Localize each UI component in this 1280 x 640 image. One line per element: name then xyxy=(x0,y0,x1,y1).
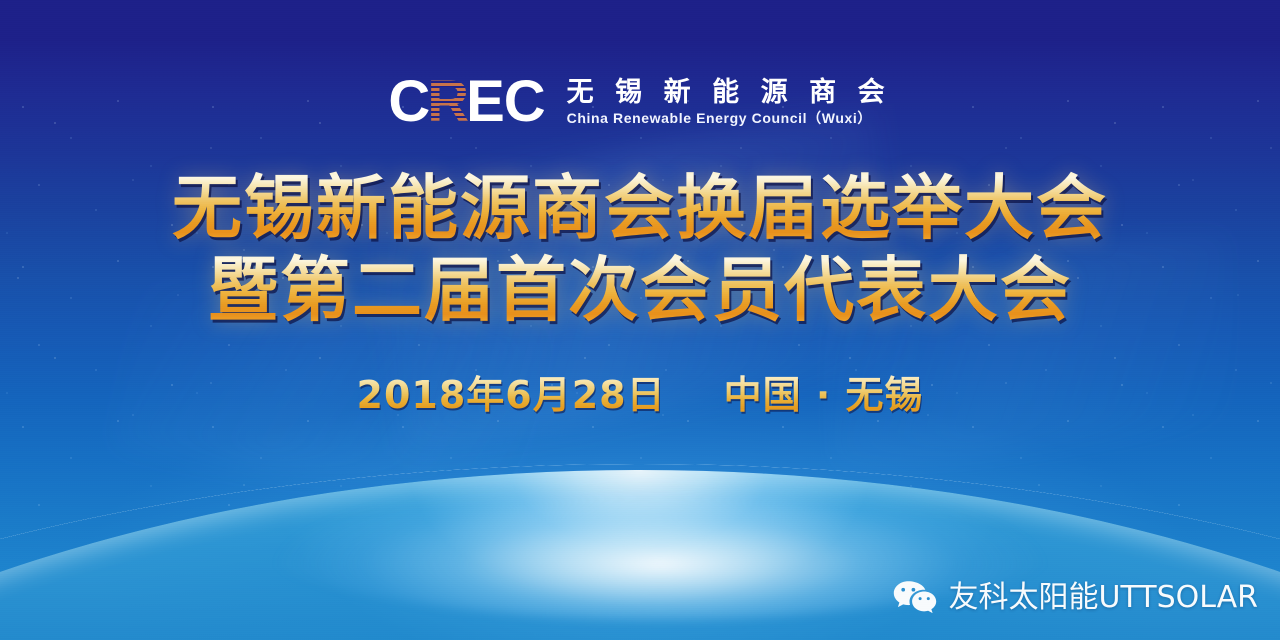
event-title-block: 无锡新能源商会换届选举大会 暨第二届首次会员代表大会 xyxy=(0,168,1280,330)
crec-logo-mark: C R E C xyxy=(388,73,544,131)
logo-letter-c2: C xyxy=(504,73,545,131)
organization-name-chinese: 无 锡 新 能 源 商 会 xyxy=(567,77,892,107)
crec-logo-lockup: C R E C 无 锡 新 能 源 商 会 China Renewable En… xyxy=(0,66,1280,138)
event-date: 2018年6月28日 xyxy=(357,372,666,418)
event-title-line-2: 暨第二届首次会员代表大会 xyxy=(0,250,1280,330)
logo-letter-r-striped: R xyxy=(427,73,468,131)
wechat-icon xyxy=(893,580,937,616)
event-location: 中国 · 无锡 xyxy=(724,372,924,418)
organization-name-english: China Renewable Energy Council（Wuxi） xyxy=(567,110,892,126)
event-meta-row: 2018年6月28日 中国 · 无锡 xyxy=(0,372,1280,418)
wechat-watermark: 友科太阳能UTTSOLAR xyxy=(893,580,1258,616)
event-title-line-1: 无锡新能源商会换届选举大会 xyxy=(0,168,1280,248)
crec-logo-wordmark: 无 锡 新 能 源 商 会 China Renewable Energy Cou… xyxy=(567,77,892,128)
event-banner: C R E C 无 锡 新 能 源 商 会 China Renewable En… xyxy=(0,0,1280,640)
logo-letter-e: E xyxy=(466,73,504,131)
wechat-account-name: 友科太阳能UTTSOLAR xyxy=(948,581,1258,615)
logo-letter-c1: C xyxy=(388,73,429,131)
